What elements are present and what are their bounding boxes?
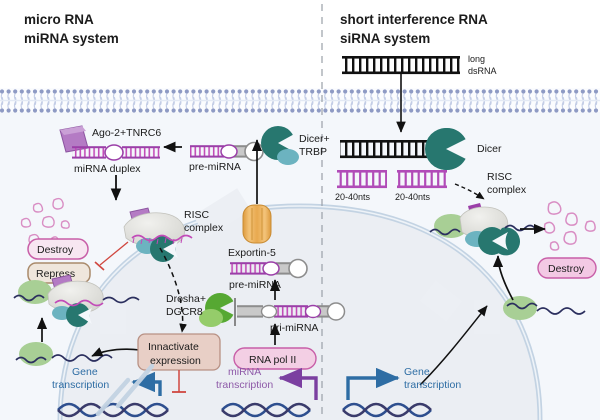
drosha-label-line1: Drosha+ xyxy=(166,293,206,305)
plasma-membrane xyxy=(0,88,600,113)
risc-label-right-line2: complex xyxy=(487,184,527,196)
left-title-line2: miRNA system xyxy=(24,31,119,46)
exportin5-label: Exportin-5 xyxy=(228,247,276,259)
risc-label-left-line1: RISC xyxy=(184,209,210,221)
sirna-fragment-right xyxy=(397,170,447,188)
gene-transcription-left-line2: transcription xyxy=(52,379,109,391)
dicer-trbp-label-line1: Dicer+ xyxy=(299,133,330,145)
dicer-trbp-label-line2: TRBP xyxy=(299,146,327,158)
destroy-badge-left: Destroy xyxy=(28,239,88,259)
pri-mirna-label: pri-miRNA xyxy=(270,322,318,334)
destroy-label-right: Destroy xyxy=(548,263,585,275)
right-title-line1: short interference RNA xyxy=(340,12,488,27)
long-dsrna-label-line1: long xyxy=(468,54,485,64)
inactivate-line2: expression xyxy=(150,355,201,367)
destroy-label-left: Destroy xyxy=(37,244,74,256)
risc-label-left-line2: complex xyxy=(184,222,224,234)
long-dsrna-label-line2: dsRNA xyxy=(468,66,497,76)
dicer-label-right: Dicer xyxy=(477,143,502,155)
risc-label-right-line1: RISC xyxy=(487,171,513,183)
pre-mirna-cytoplasm-label: pre-miRNA xyxy=(189,161,241,173)
right-title-line2: siRNA system xyxy=(340,31,430,46)
exportin5-pore xyxy=(243,205,271,243)
rna-pol-ii-label: RNA pol II xyxy=(249,354,296,366)
left-title-line1: micro RNA xyxy=(24,12,94,27)
gene-transcription-right-line1: Gene xyxy=(404,366,430,378)
sirna-right-label: 20-40nts xyxy=(395,192,431,202)
sirna-left-label: 20-40nts xyxy=(335,192,371,202)
mirna-duplex-molecule xyxy=(72,145,160,160)
destroy-badge-right: Destroy xyxy=(538,258,596,278)
mirna-transcription-line2: transcription xyxy=(216,379,273,391)
cleaved-dsrna-molecule xyxy=(340,140,440,158)
drosha-label-line2: DGCR8 xyxy=(166,306,203,318)
gene-transcription-right-line2: transcription xyxy=(404,379,461,391)
inactivate-line1: Innactivate xyxy=(148,341,199,353)
mirna-transcription-line1: miRNA xyxy=(228,366,261,378)
ago2-label: Ago-2+TNRC6 xyxy=(92,127,161,139)
gene-transcription-left-line1: Gene xyxy=(72,366,98,378)
sirna-fragment-left xyxy=(337,170,387,188)
figure-canvas: micro RNA miRNA system short interferenc… xyxy=(0,0,600,420)
long-dsrna-molecule xyxy=(342,56,460,74)
mirna-duplex-label: miRNA duplex xyxy=(74,163,141,175)
pre-mirna-nucleus-label: pre-miRNA xyxy=(229,279,281,291)
